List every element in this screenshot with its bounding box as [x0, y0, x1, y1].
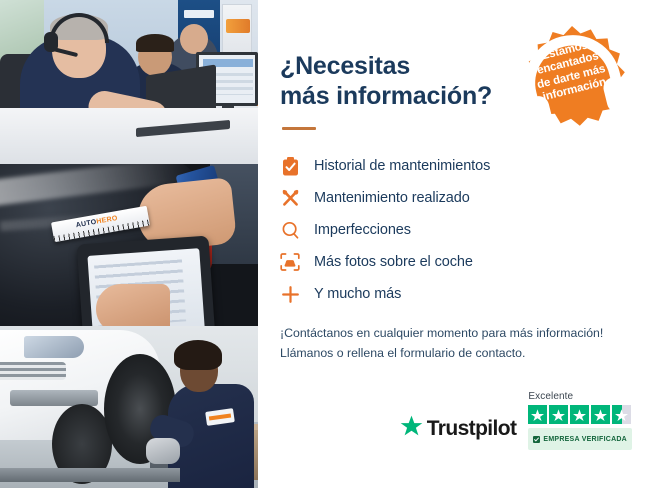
list-item: Más fotos sobre el coche: [280, 246, 628, 278]
clipboard-check-icon: [280, 156, 300, 176]
headline-line-1: ¿Necesitas: [280, 52, 410, 80]
ruler-brand-text: AUTOHERO: [75, 215, 118, 229]
ruler-brand-auto: AUTO: [75, 219, 97, 230]
trustpilot-logo: Trustpilot: [400, 415, 517, 450]
page-title: ¿Necesitas más información?: [280, 52, 512, 111]
list-item: Historial de mantenimientos: [280, 150, 628, 182]
status-badge: Estamos encantados de darte más informac…: [516, 24, 628, 136]
list-item-label: Historial de mantenimientos: [314, 158, 490, 174]
photo-2-hand-lower: [96, 284, 170, 326]
verified-company-label: EMPRESA VERIFICADA: [543, 436, 627, 443]
contact-text: ¡Contáctanos en cualquier momento para m…: [280, 324, 628, 364]
list-item-label: Más fotos sobre el coche: [314, 254, 473, 270]
photo-1-hair-middle: [136, 34, 174, 52]
photo-3-mechanic-hair: [174, 340, 222, 370]
trustpilot-rating: Excelente: [528, 391, 632, 450]
rating-star-2: [549, 405, 568, 424]
rating-star-1: [528, 405, 547, 424]
verified-company-badge: EMPRESA VERIFICADA: [528, 428, 632, 450]
content-panel: ¿Necesitas más información? Historial de…: [258, 0, 650, 488]
photo-car-inspection-ruler: AUTOHERO: [0, 164, 258, 326]
list-item-label: Imperfecciones: [314, 222, 411, 238]
list-item: Y mucho más: [280, 278, 628, 310]
photo-3-headlight: [24, 336, 84, 358]
trustpilot-brand-name: Trustpilot: [427, 417, 517, 441]
list-item-label: Y mucho más: [314, 286, 401, 302]
contact-line-2: Llámanos o rellena el formulario de cont…: [280, 344, 628, 364]
feature-list: Historial de mantenimientos Mantenimient…: [280, 150, 628, 310]
car-photo-frame-icon: [280, 252, 300, 272]
photo-column: AUTOHERO: [0, 0, 258, 488]
photo-3-lift-ramp: [0, 468, 180, 482]
headline-line-2: más información?: [280, 82, 492, 110]
photo-1-head-background: [180, 24, 208, 54]
plus-icon: [280, 284, 300, 304]
trustpilot-rating-word: Excelente: [528, 391, 573, 402]
trustpilot-widget[interactable]: Trustpilot Excelente: [400, 391, 632, 450]
magnifier-icon: [280, 220, 300, 240]
information-request-banner: AUTOHERO: [0, 0, 650, 488]
contact-line-1: ¡Contáctanos en cualquier momento para m…: [280, 324, 628, 344]
trustpilot-star-rating: [528, 405, 631, 424]
photo-mechanic-wheel-check: [0, 326, 258, 488]
list-item: Imperfecciones: [280, 214, 628, 246]
photo-3-grille: [0, 362, 66, 380]
trustpilot-star-icon: [400, 415, 423, 442]
tools-icon: [280, 188, 300, 208]
rating-star-4: [591, 405, 610, 424]
ruler-brand-hero: HERO: [96, 215, 118, 226]
list-item: Mantenimiento realizado: [280, 182, 628, 214]
photo-3-glove: [146, 438, 180, 464]
photo-1-desk: [0, 108, 258, 164]
rating-star-5-half: [612, 405, 631, 424]
photo-call-centre-agent: [0, 0, 258, 164]
list-item-label: Mantenimiento realizado: [314, 190, 470, 206]
verified-check-icon: [533, 430, 540, 448]
title-divider: [282, 127, 316, 130]
rating-star-3: [570, 405, 589, 424]
